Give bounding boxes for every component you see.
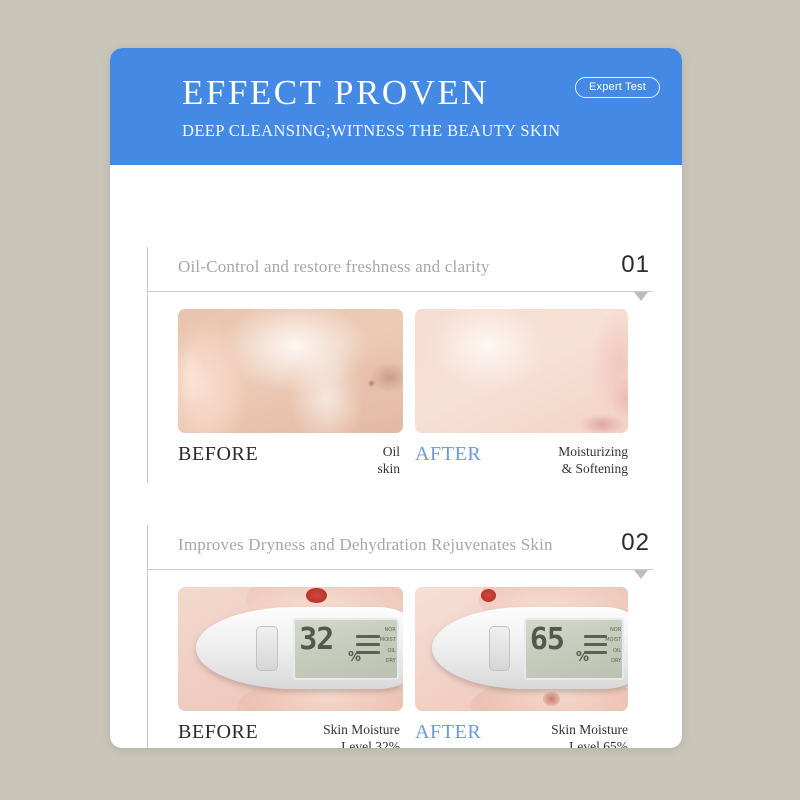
after-label: AFTER xyxy=(415,443,481,466)
chevron-down-icon xyxy=(634,570,648,579)
page-title: EFFECT PROVEN xyxy=(182,73,489,113)
after-note: Moisturizing & Softening xyxy=(533,443,628,478)
section-2-captions: BEFORE Skin Moisture Level 32% AFTER Ski… xyxy=(178,721,628,748)
meter-button xyxy=(256,626,277,671)
content-card: EFFECT PROVEN DEEP CLEANSING;WITNESS THE… xyxy=(110,48,682,748)
section-1-captions: BEFORE Oil skin AFTER Moisturizing & Sof… xyxy=(178,443,628,491)
meter-scale: NOR MOIST OIL DRY xyxy=(380,625,396,667)
section-1-image-pair xyxy=(178,309,628,433)
meter-value: 32 xyxy=(299,625,333,655)
before-label: BEFORE xyxy=(178,443,258,466)
meter-lcd-before: 32 % NOR MOIST OIL DRY xyxy=(293,618,399,679)
before-photo-oil-skin xyxy=(178,309,403,433)
meter-lcd-after: 65 % NOR MOIST OIL DRY xyxy=(524,618,624,679)
section-2-image-pair: 32 % NOR MOIST OIL DRY xyxy=(178,587,628,711)
meter-value: 65 xyxy=(530,625,564,655)
meter-bars-icon xyxy=(356,635,380,659)
page-subtitle: DEEP CLEANSING;WITNESS THE BEAUTY SKIN xyxy=(182,121,561,141)
before-note: Oil skin xyxy=(296,443,400,478)
meter-button xyxy=(489,626,509,671)
section-1-header: Oil-Control and restore freshness and cl… xyxy=(110,247,682,295)
moisture-meter-device: 65 % NOR MOIST OIL DRY xyxy=(432,607,628,689)
chevron-down-icon xyxy=(634,292,648,301)
section-2-number: 02 xyxy=(621,529,650,557)
after-photo-moisture-meter: 65 % NOR MOIST OIL DRY xyxy=(415,587,628,711)
section-1-title: Oil-Control and restore freshness and cl… xyxy=(178,257,490,277)
section-1-number: 01 xyxy=(621,251,650,279)
section-1-divider xyxy=(147,291,653,292)
section-2-title: Improves Dryness and Dehydration Rejuven… xyxy=(178,535,553,555)
meter-scale: NOR MOIST OIL DRY xyxy=(605,625,621,667)
section-oil-control: Oil-Control and restore freshness and cl… xyxy=(110,247,682,295)
header-banner: EFFECT PROVEN DEEP CLEANSING;WITNESS THE… xyxy=(110,48,682,165)
before-photo-moisture-meter: 32 % NOR MOIST OIL DRY xyxy=(178,587,403,711)
expert-test-badge[interactable]: Expert Test xyxy=(575,77,660,98)
section-dryness: Improves Dryness and Dehydration Rejuven… xyxy=(110,525,682,573)
moisture-meter-device: 32 % NOR MOIST OIL DRY xyxy=(196,607,403,689)
poster-stage: EFFECT PROVEN DEEP CLEANSING;WITNESS THE… xyxy=(0,0,800,800)
after-note: Skin Moisture Level 65% xyxy=(533,721,628,748)
before-note: Skin Moisture Level 32% xyxy=(296,721,400,748)
after-label: AFTER xyxy=(415,721,481,744)
before-label: BEFORE xyxy=(178,721,258,744)
section-2-divider xyxy=(147,569,653,570)
sections-area: Oil-Control and restore freshness and cl… xyxy=(110,165,682,748)
meter-bars-icon xyxy=(584,635,607,659)
after-photo-smooth-skin xyxy=(415,309,628,433)
section-2-header: Improves Dryness and Dehydration Rejuven… xyxy=(110,525,682,573)
